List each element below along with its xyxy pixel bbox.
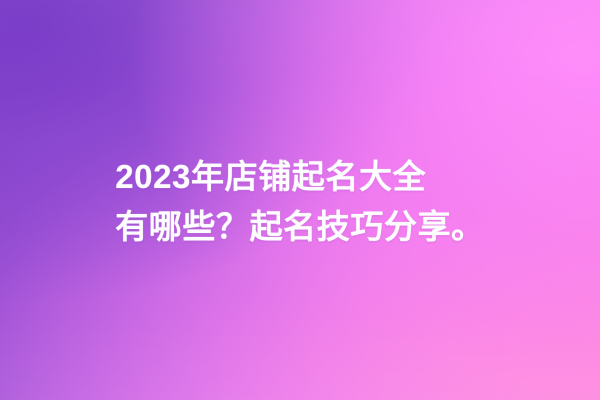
title-line-1: 2023年店铺起名大全 <box>115 152 485 202</box>
title-line-2: 有哪些？起名技巧分享。 <box>115 202 485 252</box>
title-block: 2023年店铺起名大全 有哪些？起名技巧分享。 <box>0 152 600 252</box>
title-text-group: 2023年店铺起名大全 有哪些？起名技巧分享。 <box>115 152 485 252</box>
poster-canvas: 2023年店铺起名大全 有哪些？起名技巧分享。 <box>0 0 600 400</box>
